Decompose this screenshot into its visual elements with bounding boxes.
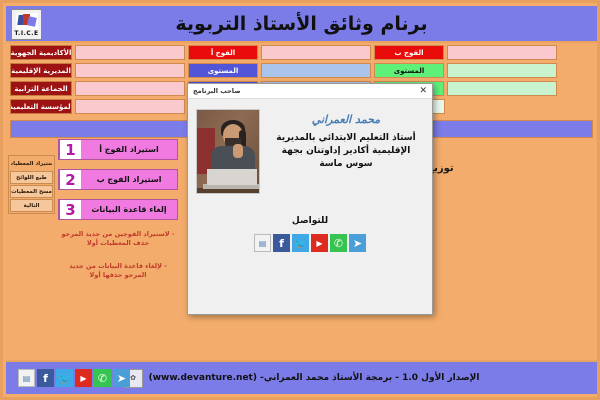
mini-item-print-lists[interactable]: طبع اللوائح (10, 171, 53, 184)
telegram-icon[interactable]: ➤ (349, 234, 366, 252)
logo-label: T.I.C.E (14, 30, 38, 37)
profile-text: محمد العمراني أستاذ التعليم الابتدائي با… (268, 109, 424, 194)
page-title: برنام وثائق الأستاذ التربوية (6, 13, 597, 35)
logo-artwork-icon (16, 13, 38, 30)
button-label: استيراد الفوج أ (81, 140, 177, 159)
button-label: إلغاء قاعدة البيانات (81, 200, 177, 219)
input-commune[interactable] (75, 81, 185, 96)
input-group-a[interactable] (261, 45, 371, 60)
delete-database-button[interactable]: 3 إلغاء قاعدة البيانات (58, 199, 178, 220)
mini-item-clear-data[interactable]: مسح المعطيات (10, 185, 53, 198)
note-import: - لاستيراد الفوجين من جديد المرجو حذف ال… (58, 230, 178, 248)
whatsapp-icon[interactable]: ✆ (330, 234, 347, 252)
notes-block: - لاستيراد الفوجين من جديد المرجو حذف ال… (58, 230, 178, 280)
import-group-a-button[interactable]: 1 استيراد الفوج أ (58, 139, 178, 160)
dialog-title: صاحب البرنامج (193, 87, 241, 95)
close-icon[interactable]: ✕ (419, 87, 427, 96)
twitter-icon[interactable]: 🐦 (292, 234, 309, 252)
mini-menu-header: استيراد المعطيات (10, 157, 53, 170)
youtube-icon[interactable]: ▶ (311, 234, 328, 252)
application-window: T.I.C.E برنام وثائق الأستاذ التربوية الأ… (0, 0, 600, 400)
label-direction: المديرية الإقليمية (10, 63, 72, 78)
telegram-icon[interactable]: ➤ (113, 369, 130, 387)
action-button-column: 1 استيراد الفوج أ 2 استيراد الفوج ب 3 إل… (58, 139, 178, 294)
dialog-title-bar: صاحب البرنامج ✕ (188, 84, 432, 99)
input-level-b[interactable] (447, 63, 557, 78)
facebook-icon[interactable]: f (37, 369, 54, 387)
contact-label: للتواصل (196, 216, 424, 226)
side-mini-menu: استيراد المعطيات طبع اللوائح مسح المعطيا… (8, 155, 55, 214)
input-direction[interactable] (75, 63, 185, 78)
input-academy[interactable] (75, 45, 185, 60)
whatsapp-icon[interactable]: ✆ (94, 369, 111, 387)
author-photo (196, 109, 260, 194)
footer-text: الإصدار الأول 1.0 - برمجة الأستاذ محمد ا… (149, 373, 480, 383)
twitter-icon[interactable]: 🐦 (56, 369, 73, 387)
label-level-a: المستوى (188, 63, 258, 78)
author-name: محمد العمراني (268, 113, 424, 126)
about-author-dialog: صاحب البرنامج ✕ محمد العمراني أستاذ التع… (187, 83, 433, 315)
label-commune: الجماعة الترابية (10, 81, 72, 96)
website-icon[interactable]: ▤ (254, 234, 271, 252)
author-description: أستاذ التعليم الابتدائي بالمديرية الإقلي… (268, 132, 424, 171)
note-delete: - لإلغاء قاعدة البيانات من جديد المرجو ح… (58, 262, 178, 280)
youtube-icon[interactable]: ▶ (75, 369, 92, 387)
button-number: 2 (59, 170, 81, 189)
mini-item-next[interactable]: التالية (10, 199, 53, 212)
facebook-icon[interactable]: f (273, 234, 290, 252)
form-row-2: المديرية الإقليمية المستوى المستوى (6, 63, 597, 78)
form-row-1: الأكاديمية الجهوية الفوج أ الفوج ب (6, 45, 597, 60)
footer-bar: ➤ ✆ ▶ 🐦 f ▤ الإصدار الأول 1.0 - برمجة ال… (6, 360, 597, 394)
tice-logo: T.I.C.E (11, 9, 42, 40)
label-level-b: المستوى (374, 63, 444, 78)
profile-row: محمد العمراني أستاذ التعليم الابتدائي با… (196, 109, 424, 194)
dialog-social-links: ➤ ✆ ▶ 🐦 f ▤ (196, 234, 424, 252)
label-group-a: الفوج أ (188, 45, 258, 60)
import-group-b-button[interactable]: 2 استيراد الفوج ب (58, 169, 178, 190)
button-number: 3 (59, 200, 81, 219)
label-group-b: الفوج ب (374, 45, 444, 60)
dialog-body: محمد العمراني أستاذ التعليم الابتدائي با… (188, 99, 432, 252)
input-school[interactable] (75, 99, 185, 114)
input-group-b[interactable] (447, 45, 557, 60)
button-label: استيراد الفوج ب (81, 170, 177, 189)
button-number: 1 (59, 140, 81, 159)
label-school: المؤسسة التعليمية (10, 99, 72, 114)
title-bar: T.I.C.E برنام وثائق الأستاذ التربوية (6, 6, 597, 43)
input-level-a[interactable] (261, 63, 371, 78)
input-teacher-b[interactable] (447, 81, 557, 96)
footer-social-links: ➤ ✆ ▶ 🐦 f ▤ (18, 369, 130, 387)
label-academy: الأكاديمية الجهوية (10, 45, 72, 60)
website-icon[interactable]: ▤ (18, 369, 35, 387)
